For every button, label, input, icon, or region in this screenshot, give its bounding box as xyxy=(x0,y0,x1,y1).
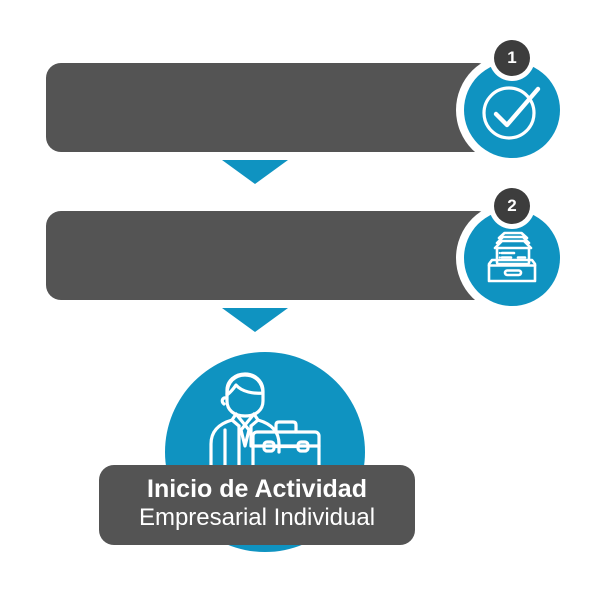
step-1-label-box xyxy=(46,63,493,152)
step-3-label-text: Inicio de Actividad Empresarial Individu… xyxy=(99,475,415,532)
businessman-briefcase-icon xyxy=(198,368,334,476)
arrow-step2-to-step3 xyxy=(222,308,288,332)
step-3-title-line-2: Empresarial Individual xyxy=(99,504,415,532)
card-file-box-icon xyxy=(478,224,546,292)
step-2-label-box xyxy=(46,211,493,300)
step-3-title-line-1: Inicio de Actividad xyxy=(99,475,415,504)
arrow-step1-to-step2 xyxy=(222,160,288,184)
step-2-number-badge: 2 xyxy=(494,188,530,224)
step-1-number-badge: 1 xyxy=(494,40,530,76)
process-flow-infographic: Declaración Censal Alta en IAE 1 Alta en… xyxy=(0,0,608,605)
check-circle-icon xyxy=(478,76,546,144)
